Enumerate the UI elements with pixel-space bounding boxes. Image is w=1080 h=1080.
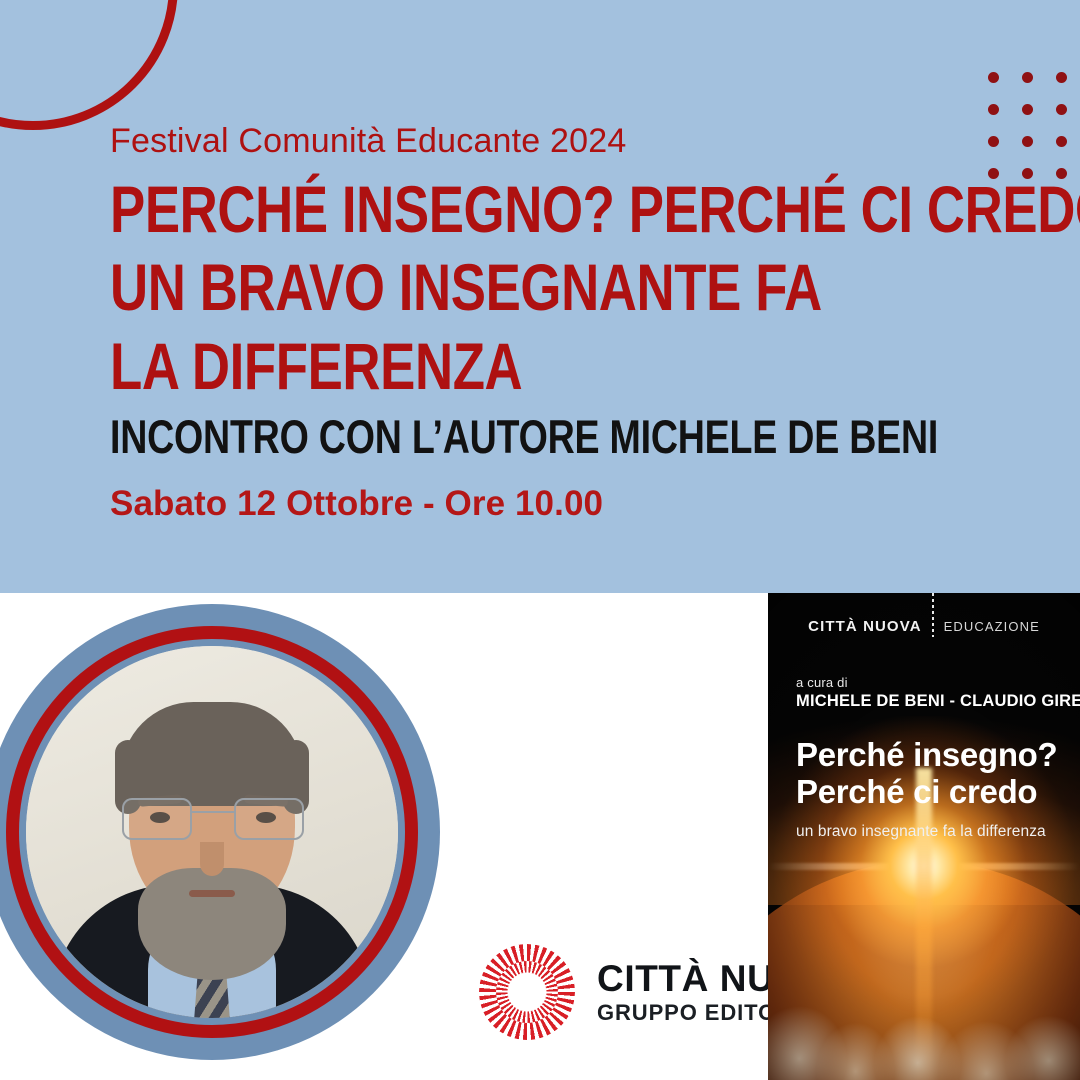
headline-line-1: PERCHÉ INSEGNO? PERCHÉ CI CREDO (110, 177, 830, 242)
poster-header-panel: Festival Comunità Educante 2024 PERCHÉ I… (0, 0, 1080, 593)
headline-line-2: UN BRAVO INSEGNANTE FA (110, 255, 830, 320)
book-title: Perché insegno? Perché ci credo (796, 737, 1062, 811)
citta-nuova-sunburst-icon (479, 944, 575, 1040)
book-editors: MICHELE DE BENI - CLAUDIO GIRELLI (796, 692, 1062, 711)
glasses-icon (122, 798, 304, 838)
book-title-line-1: Perché insegno? (796, 737, 1062, 774)
poster-text-block: Festival Comunità Educante 2024 PERCHÉ I… (110, 120, 1010, 524)
book-imprint-category: EDUCAZIONE (944, 619, 1040, 634)
dotted-divider-icon (932, 593, 934, 637)
headline-line-3: LA DIFFERENZA (110, 334, 830, 399)
portrait-nose (200, 842, 224, 876)
book-cover-text: a cura di MICHELE DE BENI - CLAUDIO GIRE… (796, 675, 1062, 841)
event-eyebrow: Festival Comunità Educante 2024 (110, 120, 1010, 163)
decorative-arc-icon (0, 0, 178, 130)
book-subtitle: un bravo insegnante fa la differenza (796, 823, 1062, 841)
avatar (26, 646, 398, 1018)
event-subtitle: INCONTRO CON L’AUTORE MICHELE DE BENI (110, 413, 830, 460)
book-imprint-row: CITTÀ NUOVA EDUCAZIONE (768, 615, 1080, 637)
author-portrait (0, 604, 440, 1060)
portrait-hair (121, 702, 303, 806)
book-title-line-2: Perché ci credo (796, 774, 1062, 811)
portrait-mouth (189, 890, 235, 897)
book-curated-label: a cura di (796, 675, 1062, 690)
portrait-beard (138, 868, 286, 980)
page-title: PERCHÉ INSEGNO? PERCHÉ CI CREDO UN BRAVO… (110, 177, 830, 399)
book-imprint-name: CITTÀ NUOVA (808, 618, 921, 635)
event-poster: Festival Comunità Educante 2024 PERCHÉ I… (0, 0, 1080, 1080)
event-datetime: Sabato 12 Ottobre - Ore 10.00 (110, 484, 1010, 524)
book-cover: CITTÀ NUOVA EDUCAZIONE a cura di MICHELE… (768, 593, 1080, 1080)
